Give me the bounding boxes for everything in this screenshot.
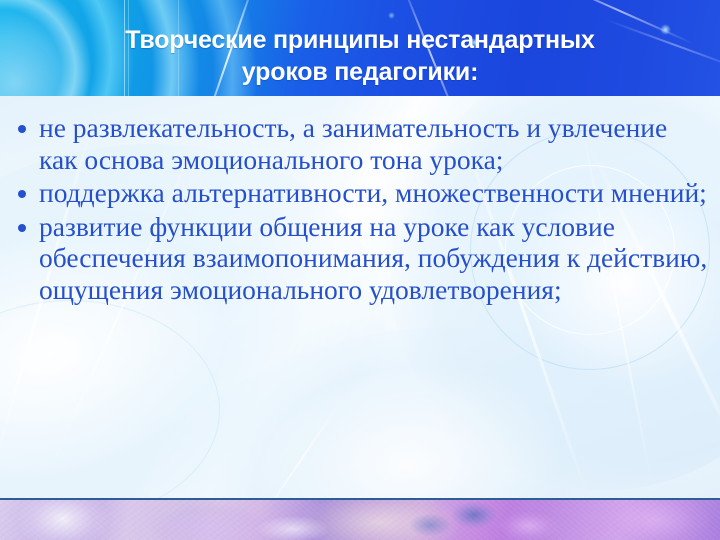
- bullet-item-text: поддержка альтернативности, множественно…: [39, 177, 708, 209]
- bullet-item-text: не развлекательность, а занимательность …: [39, 112, 708, 175]
- footer-texture-blob: [18, 500, 108, 540]
- footer-texture-blob: [258, 516, 328, 540]
- footer-texture-blob: [150, 504, 270, 540]
- round-bullet-icon: [18, 211, 39, 232]
- footer-texture-blob: [410, 514, 450, 536]
- header-sparkle-dot: [388, 12, 395, 19]
- bullet-list-item: развитие функции общения на уроке как ус…: [0, 211, 720, 306]
- round-bullet-icon: [18, 112, 39, 133]
- presentation-slide: Творческие принципы нестандартных уроков…: [0, 0, 720, 540]
- footer-texture-blob: [500, 512, 558, 540]
- bullet-item-text: развитие функции общения на уроке как ус…: [39, 211, 708, 306]
- slide-body-bullet-list: не развлекательность, а занимательность …: [0, 112, 720, 307]
- bullet-list-item: поддержка альтернативности, множественно…: [0, 177, 720, 209]
- footer-texture-blob: [300, 500, 460, 540]
- background-ring-left: [0, 300, 220, 520]
- slide-title: Творческие принципы нестандартных уроков…: [0, 24, 720, 88]
- bullet-list-item: не развлекательность, а занимательность …: [0, 112, 720, 175]
- footer-texture-noise: [0, 500, 720, 540]
- slide-header-band: Творческие принципы нестандартных уроков…: [0, 0, 720, 96]
- footer-decorative-band: [0, 500, 720, 540]
- footer-texture-blob: [600, 500, 710, 540]
- round-bullet-icon: [18, 177, 39, 198]
- footer-texture-blob: [452, 502, 496, 528]
